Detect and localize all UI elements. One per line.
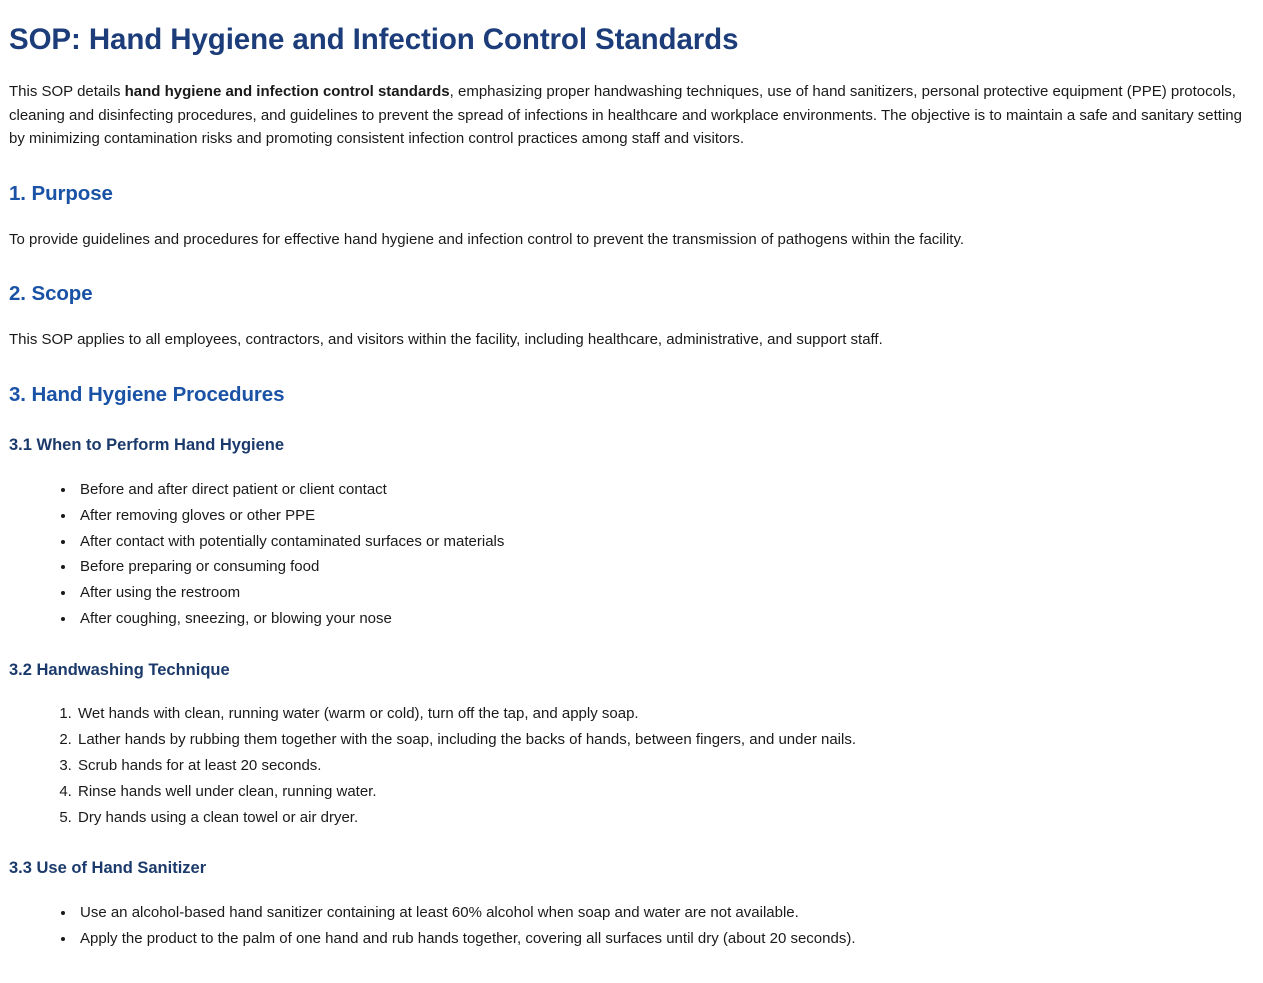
section-body-purpose: To provide guidelines and procedures for… — [9, 228, 1249, 252]
subsection-heading-handwashing-technique: 3.2 Handwashing Technique — [9, 660, 1249, 681]
subsection-heading-use-of-hand-sanitizer: 3.3 Use of Hand Sanitizer — [9, 858, 1249, 879]
intro-text-part-1: This SOP details — [9, 83, 125, 100]
list-use-of-hand-sanitizer: Use an alcohol-based hand sanitizer cont… — [9, 900, 1249, 952]
list-item: Apply the product to the palm of one han… — [76, 926, 1249, 952]
list-when-to-perform: Before and after direct patient or clien… — [9, 477, 1249, 632]
list-item: Rinse hands well under clean, running wa… — [76, 779, 1249, 805]
section-heading-scope: 2. Scope — [9, 281, 1249, 307]
list-item: Lather hands by rubbing them together wi… — [76, 727, 1249, 753]
section-body-scope: This SOP applies to all employees, contr… — [9, 328, 1249, 352]
list-item: Use an alcohol-based hand sanitizer cont… — [76, 900, 1249, 926]
list-item: After coughing, sneezing, or blowing you… — [76, 606, 1249, 632]
list-item: Scrub hands for at least 20 seconds. — [76, 753, 1249, 779]
section-heading-purpose: 1. Purpose — [9, 181, 1249, 207]
list-item: Dry hands using a clean towel or air dry… — [76, 805, 1249, 831]
document-body: SOP: Hand Hygiene and Infection Control … — [0, 0, 1263, 970]
intro-bold-phrase: hand hygiene and infection control stand… — [125, 83, 450, 100]
list-item: Wet hands with clean, running water (war… — [76, 701, 1249, 727]
page-title: SOP: Hand Hygiene and Infection Control … — [9, 22, 1249, 58]
section-heading-hand-hygiene-procedures: 3. Hand Hygiene Procedures — [9, 382, 1249, 408]
list-item: After contact with potentially contamina… — [76, 529, 1249, 555]
list-handwashing-technique: Wet hands with clean, running water (war… — [9, 701, 1249, 830]
intro-paragraph: This SOP details hand hygiene and infect… — [9, 80, 1249, 151]
list-item: Before and after direct patient or clien… — [76, 477, 1249, 503]
list-item: Before preparing or consuming food — [76, 554, 1249, 580]
list-item: After using the restroom — [76, 580, 1249, 606]
subsection-heading-when-to-perform: 3.1 When to Perform Hand Hygiene — [9, 435, 1249, 456]
list-item: After removing gloves or other PPE — [76, 503, 1249, 529]
